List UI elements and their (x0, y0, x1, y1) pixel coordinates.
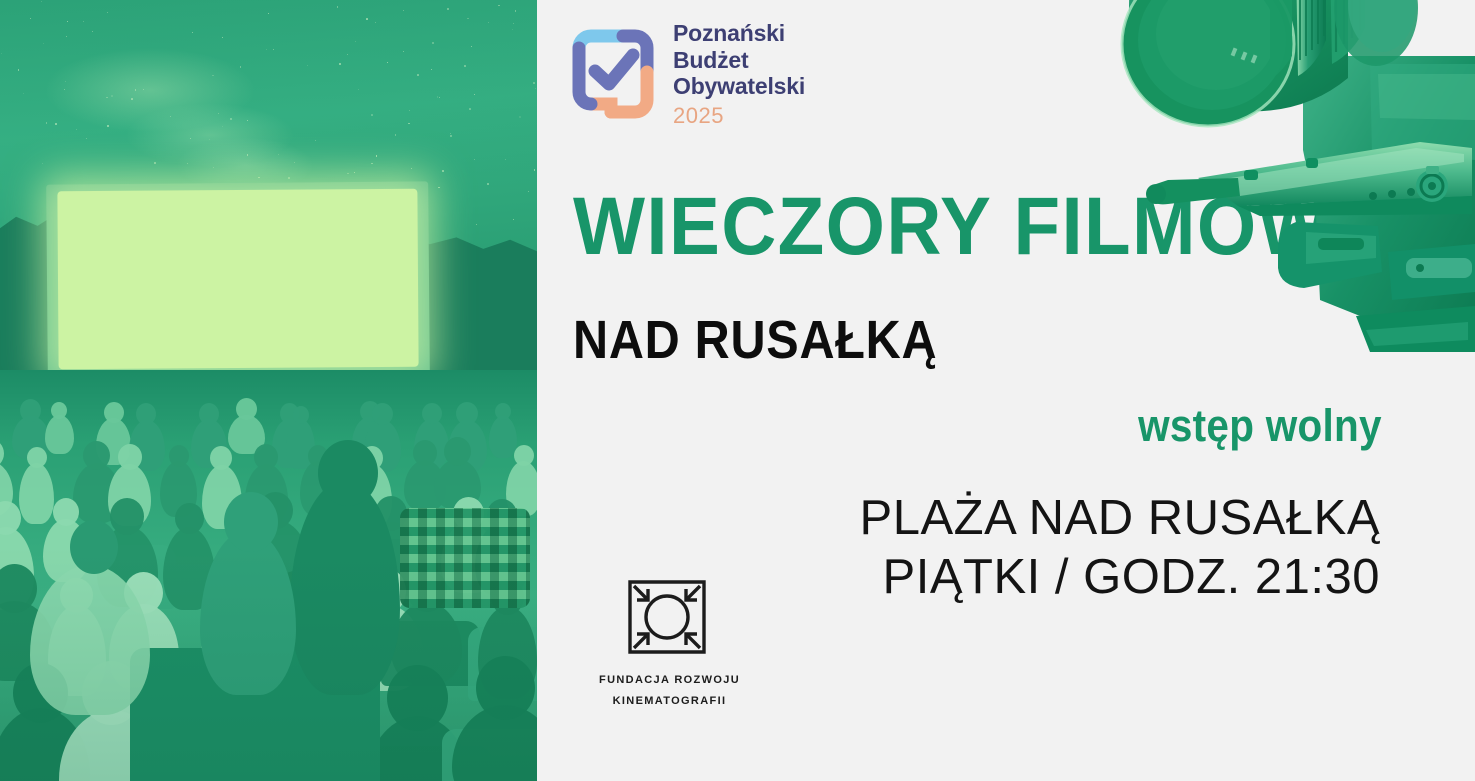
star (376, 155, 377, 156)
star (358, 89, 359, 90)
audience-person-head (27, 447, 47, 468)
audience-person-head (169, 445, 189, 467)
star (67, 21, 68, 22)
star (213, 167, 214, 168)
star (488, 22, 489, 23)
audience-person-head (175, 503, 204, 534)
star (30, 18, 31, 19)
star (222, 37, 223, 38)
star (476, 224, 477, 225)
star (512, 29, 513, 30)
star (43, 43, 44, 44)
star (18, 69, 20, 71)
foundation-wordmark: FUNDACJA ROZWOJU KINEMATOGRAFII (597, 670, 742, 712)
audience-person-head (456, 402, 478, 425)
star (487, 183, 489, 185)
star (408, 123, 409, 124)
audience-person-head (199, 403, 219, 425)
plaid-blanket (400, 508, 530, 608)
star (131, 98, 133, 100)
star (268, 13, 269, 14)
star (247, 120, 248, 121)
star (409, 110, 410, 111)
audience-person-head (514, 445, 534, 466)
audience-person-head (0, 439, 4, 468)
poster-subtitle: NAD RUSAŁKĄ (573, 313, 937, 367)
ballot-check-icon (567, 14, 659, 126)
star (371, 114, 373, 116)
star (218, 113, 219, 114)
star (170, 116, 171, 117)
star (375, 22, 377, 24)
star (111, 95, 113, 97)
star (209, 139, 210, 140)
star (288, 177, 290, 179)
audience-person-blanket-head (70, 520, 118, 574)
star (107, 12, 108, 13)
star (41, 1, 42, 2)
star (240, 66, 242, 68)
star (366, 18, 368, 20)
star (92, 31, 93, 32)
star (387, 62, 388, 63)
audience-person-head (118, 444, 142, 470)
star (230, 118, 232, 120)
star (347, 173, 348, 174)
star (55, 123, 57, 125)
star (247, 154, 248, 155)
star (143, 89, 144, 90)
pbo-line-2: Budżet (673, 47, 873, 74)
star (403, 10, 404, 11)
star (76, 129, 77, 130)
audience-person-head (476, 656, 535, 720)
star (533, 82, 535, 84)
star (46, 122, 47, 123)
venue-details: PLAŻA NAD RUSAŁKĄ PIĄTKI / GODZ. 21:30 (860, 489, 1380, 607)
star (187, 163, 188, 164)
star (513, 23, 514, 24)
star (107, 125, 109, 127)
audience-crowd (0, 380, 537, 781)
star (411, 168, 412, 169)
star (474, 94, 475, 95)
star (106, 97, 107, 98)
star (212, 75, 213, 76)
star (447, 8, 449, 10)
audience-person-head (83, 441, 110, 470)
star (258, 177, 260, 179)
audience-person-head (413, 440, 437, 466)
star (23, 93, 24, 94)
outdoor-cinema-audience-photo (0, 0, 537, 781)
pbo-line-3: Obywatelski (673, 73, 873, 100)
star (464, 65, 466, 67)
audience-person (45, 415, 74, 454)
star (371, 163, 373, 165)
audience-person-head (387, 665, 448, 731)
star (266, 49, 267, 50)
star (222, 126, 223, 127)
audience-person-head (51, 402, 67, 419)
star (450, 135, 452, 137)
star (347, 54, 348, 55)
star (439, 97, 440, 98)
star (64, 89, 65, 90)
star (66, 36, 67, 37)
star (395, 134, 397, 136)
star (513, 219, 514, 220)
pbo-year: 2025 (673, 103, 873, 129)
star (438, 187, 440, 189)
audience-person-head (0, 501, 21, 535)
audience-person-head (236, 398, 257, 420)
star (65, 81, 66, 82)
star (519, 116, 521, 118)
star (135, 89, 136, 90)
framed-circle-crop-icon (626, 578, 708, 656)
star (498, 5, 500, 7)
star (192, 32, 193, 33)
audience-person-head (20, 399, 41, 422)
star (474, 159, 475, 160)
star (294, 162, 295, 163)
audience-person-head (422, 403, 442, 424)
star (337, 6, 339, 8)
foundation-line-2: KINEMATOGRAFII (597, 691, 742, 712)
audience-person-head (372, 403, 393, 425)
star (431, 69, 432, 70)
venue-line-1: PLAŻA NAD RUSAŁKĄ (860, 489, 1380, 548)
star (355, 41, 356, 42)
star (534, 169, 536, 171)
audience-person-head (104, 402, 124, 423)
star (86, 138, 88, 140)
star (505, 159, 507, 161)
pbo-line-1: Poznański (673, 20, 873, 47)
star (154, 162, 156, 164)
film-camera-graphic (1120, 0, 1475, 352)
audience-person-head (254, 444, 278, 470)
audience-person-head (210, 446, 232, 470)
poster-canvas: Poznański Budżet Obywatelski 2025 WIECZO… (0, 0, 1475, 781)
audience-person (489, 416, 517, 458)
star (467, 18, 469, 20)
star (450, 133, 451, 134)
pbo-wordmark: Poznański Budżet Obywatelski 2025 (673, 20, 873, 129)
star (1, 53, 2, 54)
star (42, 163, 43, 164)
audience-person-foreground-left-head (224, 492, 278, 552)
star (273, 49, 274, 50)
star (417, 74, 419, 76)
star (403, 51, 404, 52)
star (307, 65, 308, 66)
star (442, 170, 444, 172)
audience-person-head (136, 403, 156, 425)
star (515, 10, 517, 12)
star (432, 42, 434, 44)
star (278, 154, 279, 155)
fundacja-rozwoju-kinematografii-logo: FUNDACJA ROZWOJU KINEMATOGRAFII (597, 578, 747, 712)
star (315, 140, 316, 141)
audience-person-head (110, 498, 144, 535)
cinema-screen-glow (57, 189, 418, 370)
free-entry-label: wstęp wolny (1138, 403, 1382, 448)
star (469, 108, 471, 110)
star (354, 172, 355, 173)
audience-person-head (495, 403, 511, 420)
audience-person-foreground-right-head (318, 440, 378, 506)
foundation-line-1: FUNDACJA ROZWOJU (597, 670, 742, 691)
venue-line-2: PIĄTKI / GODZ. 21:30 (860, 548, 1380, 607)
star (339, 63, 341, 65)
audience-person-head (53, 498, 79, 526)
star (83, 21, 84, 22)
star (471, 46, 472, 47)
star (535, 88, 536, 89)
star (528, 191, 529, 192)
audience-person-head (293, 406, 309, 424)
poznanski-budzet-obywatelski-logo: Poznański Budżet Obywatelski 2025 (567, 8, 817, 133)
audience-person-head (444, 437, 471, 466)
star (190, 138, 191, 139)
audience-person (19, 463, 54, 524)
